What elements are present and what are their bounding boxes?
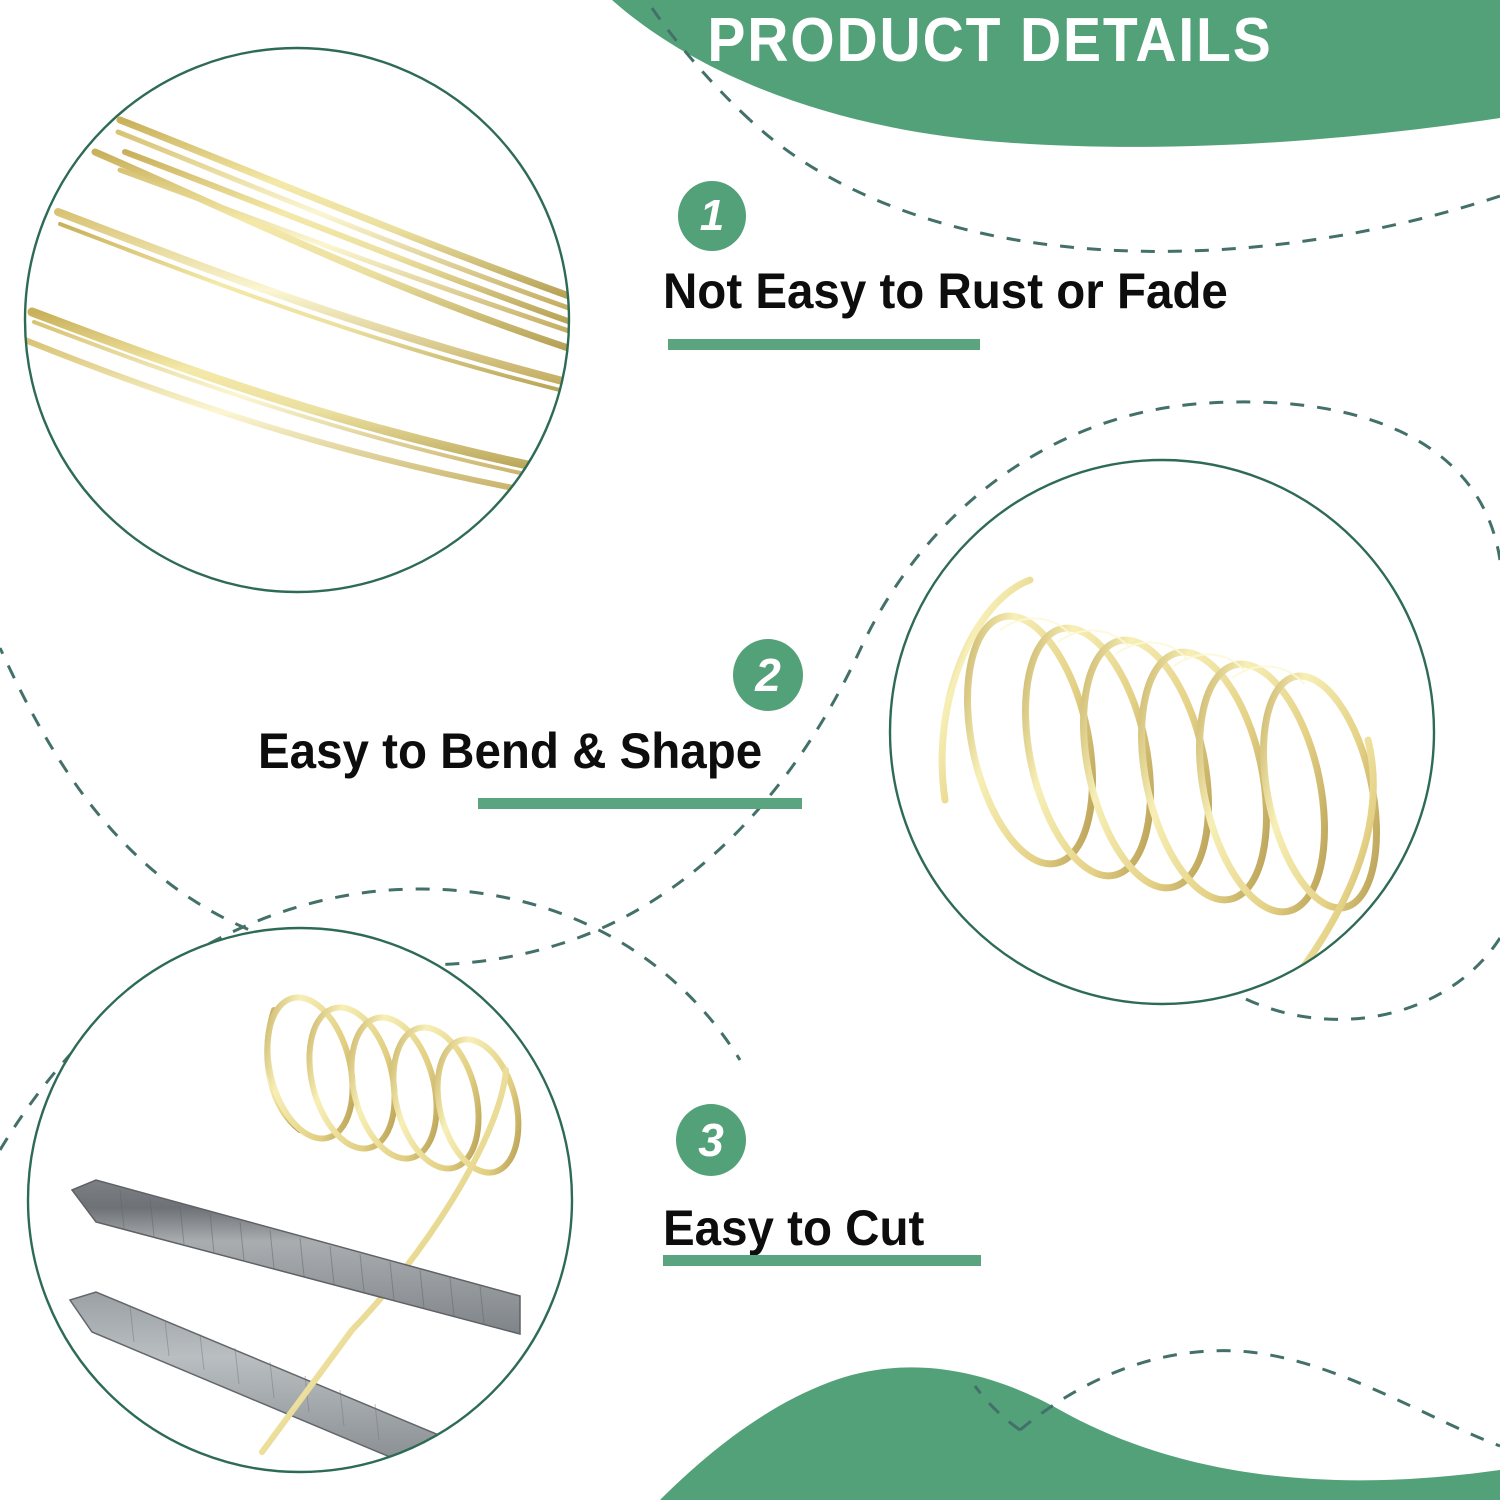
feature-underline-2 <box>478 798 802 809</box>
feature-headline-2: Easy to Bend & Shape <box>258 726 762 776</box>
feature-underline-1 <box>668 339 980 350</box>
feature-number-badge-3: 3 <box>676 1104 746 1176</box>
feature-headline-1: Not Easy to Rust or Fade <box>663 266 1228 316</box>
product-details-infographic: PRODUCT DETAILS 1 Not Easy to Rust or Fa… <box>0 0 1500 1500</box>
page-title: PRODUCT DETAILS <box>668 8 1312 73</box>
feature-underline-3 <box>663 1255 981 1266</box>
feature-number-badge-1: 1 <box>678 181 746 251</box>
feature-headline-3: Easy to Cut <box>663 1203 924 1253</box>
feature-number-badge-2: 2 <box>733 639 803 711</box>
